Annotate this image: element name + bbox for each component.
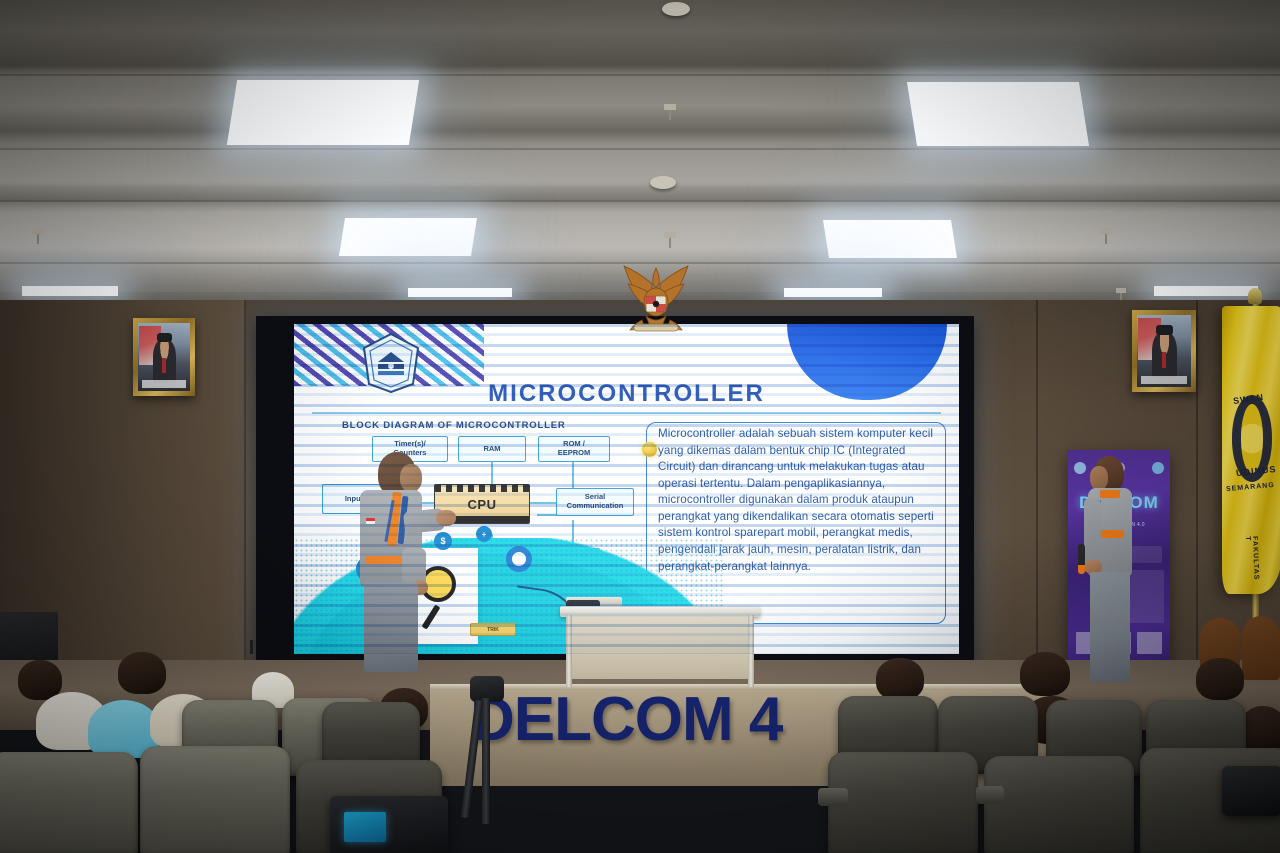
seat-armrest xyxy=(818,788,848,806)
ceiling-light-panel xyxy=(784,288,882,297)
garuda-pancasila-emblem xyxy=(612,262,700,336)
ceiling-hook xyxy=(664,104,676,110)
audience-head xyxy=(1240,706,1280,750)
presentation-table-top xyxy=(560,606,760,617)
audience-head xyxy=(1020,652,1070,696)
ceiling-light-panel xyxy=(22,286,118,296)
audience-seat xyxy=(828,752,978,853)
ceiling-light-panel xyxy=(1154,286,1258,296)
camera-screen xyxy=(344,812,386,842)
slide-bullet-icon xyxy=(642,442,657,457)
table-leg xyxy=(748,615,754,687)
microphone[interactable] xyxy=(1078,544,1085,574)
seat-armrest xyxy=(976,786,1004,804)
diagram-block-serial-communication: Serial Communication xyxy=(556,488,634,516)
smoke-detector xyxy=(662,2,690,16)
audience-head xyxy=(118,652,166,694)
lecture-hall-photo: SWAN UDINUS SEMARANG FAKULTAS T DELCOM C… xyxy=(0,0,1280,853)
diagram-block-rom-eeprom: ROM / EEPROM xyxy=(538,436,610,462)
speaker-face xyxy=(1090,466,1108,490)
flag-text-bottom: SEMARANG xyxy=(1226,482,1275,493)
stage-signage-delcom: DELCOM 4 xyxy=(470,684,890,756)
table-leg xyxy=(566,615,572,687)
ceiling-light-panel xyxy=(227,80,419,145)
presentation-table-body xyxy=(568,617,752,679)
diagram-block-ram: RAM xyxy=(458,436,526,462)
ceiling-hook xyxy=(1116,288,1126,293)
presenter-on-stage xyxy=(350,452,460,672)
video-camera xyxy=(1222,766,1280,816)
audience-seat xyxy=(0,752,138,853)
ceiling-light-panel xyxy=(907,82,1089,146)
sponsor-icon xyxy=(1152,462,1164,474)
speaker-legs xyxy=(1090,572,1130,682)
diagram-heading: BLOCK DIAGRAM OF MICROCONTROLLER xyxy=(342,420,566,431)
indonesian-flag-patch xyxy=(366,518,375,524)
slide-illustration-tag: TRIK xyxy=(470,623,516,636)
institution-flag: SWAN UDINUS SEMARANG FAKULTAS T xyxy=(1222,306,1280,594)
speaker-by-banner xyxy=(1080,456,1150,682)
speaker-arm xyxy=(1084,498,1101,568)
audience-seat xyxy=(140,746,290,853)
ceiling-hook xyxy=(1100,228,1112,234)
speaker-uniform-stripe xyxy=(1100,490,1120,498)
coin-icon: + xyxy=(476,526,492,542)
audience-head xyxy=(876,658,924,700)
flag-text-side: FAKULTAS T xyxy=(1244,536,1260,581)
ceiling-light-panel xyxy=(339,218,477,256)
ceiling-light-panel xyxy=(408,288,512,297)
slide-title: MICROCONTROLLER xyxy=(294,380,959,408)
flag-pole-finial xyxy=(1248,288,1262,304)
tripod-leg xyxy=(482,698,490,824)
ceiling-hook xyxy=(664,232,676,238)
gear-icon xyxy=(506,546,532,572)
presenter-face xyxy=(400,464,422,492)
audience-head xyxy=(1196,658,1244,700)
smoke-detector xyxy=(650,176,676,189)
portrait-right xyxy=(1132,310,1196,392)
ceiling-light-panel xyxy=(823,220,957,258)
slide-divider xyxy=(312,412,941,414)
portrait-left xyxy=(133,318,195,396)
wooden-chair xyxy=(1242,616,1280,680)
presenter-hand xyxy=(436,510,456,526)
ceiling-hook xyxy=(32,228,44,234)
presenter-legs xyxy=(364,582,418,672)
audience-seat xyxy=(984,756,1134,853)
cpu-label: CPU xyxy=(468,497,497,512)
